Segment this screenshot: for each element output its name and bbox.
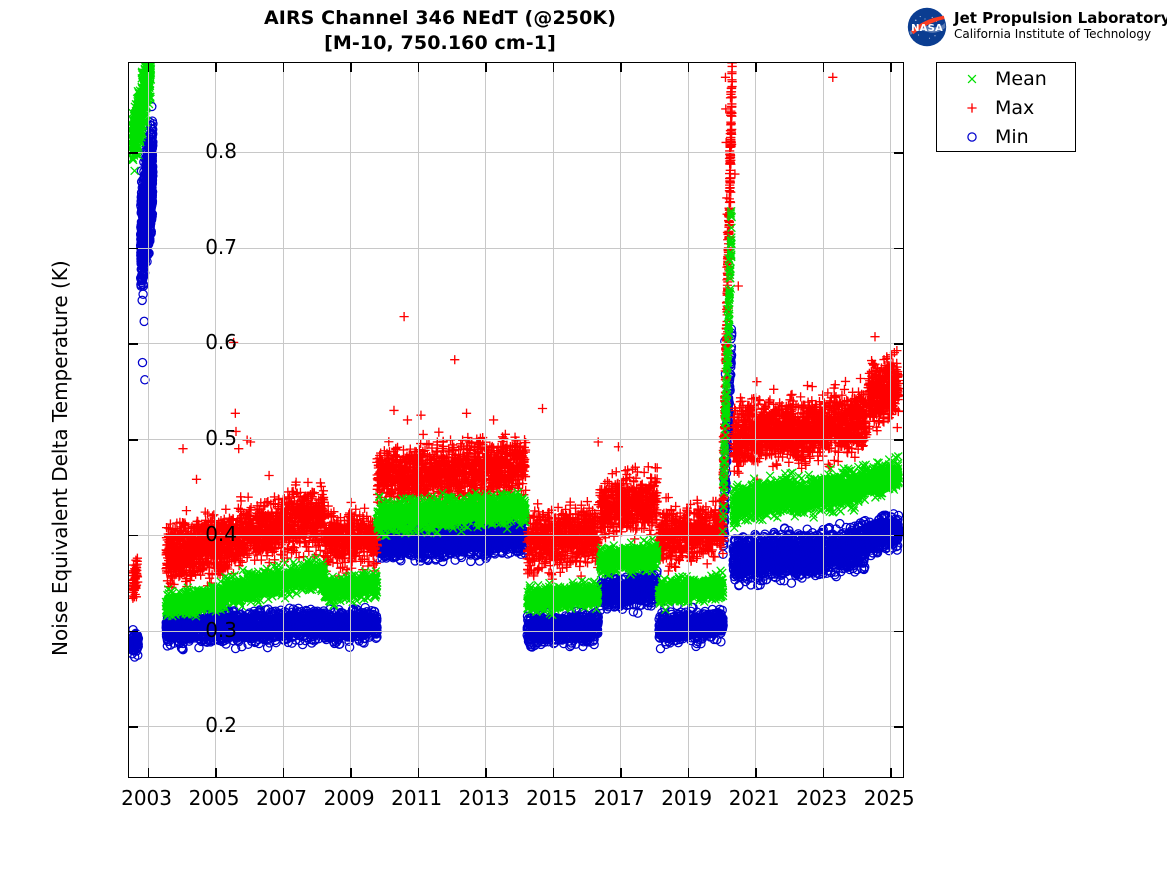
y-axis-tick	[129, 631, 138, 633]
x-axis-tick-label: 2013	[459, 786, 510, 810]
x-axis-tick	[688, 768, 690, 777]
y-axis-tick	[894, 726, 903, 728]
y-axis-title: Noise Equivalent Delta Temperature (K)	[48, 260, 72, 656]
legend-item-max[interactable]: Max	[937, 93, 1075, 123]
x-axis-tick-label: 2021	[729, 786, 780, 810]
x-axis-tick-label: 2007	[256, 786, 307, 810]
chart-title: AIRS Channel 346 NEdT (@250K) [M-10, 750…	[0, 6, 880, 56]
gridline-horizontal	[129, 535, 903, 536]
gridline-vertical	[755, 63, 756, 777]
legend-label: Mean	[995, 64, 1047, 94]
legend: MeanMaxMin	[936, 62, 1076, 152]
x-axis-tick	[418, 768, 420, 777]
x-axis-tick	[890, 63, 892, 72]
x-axis-tick-label: 2015	[526, 786, 577, 810]
y-axis-tick-label: 0.7	[205, 235, 237, 259]
x-axis-tick	[148, 768, 150, 777]
x-axis-tick	[283, 768, 285, 777]
legend-label: Max	[995, 93, 1034, 123]
y-axis-tick	[894, 439, 903, 441]
x-axis-tick	[823, 63, 825, 72]
gridline-vertical	[418, 63, 419, 777]
y-axis-tick	[129, 726, 138, 728]
gridline-vertical	[148, 63, 149, 777]
x-axis-tick-label: 2003	[121, 786, 172, 810]
y-axis-tick	[129, 535, 138, 537]
y-axis-tick-label: 0.6	[205, 330, 237, 354]
x-axis-tick	[350, 768, 352, 777]
x-axis-tick-label: 2011	[391, 786, 442, 810]
gridline-horizontal	[129, 248, 903, 249]
y-axis-tick-label: 0.2	[205, 713, 237, 737]
gridline-vertical	[350, 63, 351, 777]
x-axis-tick	[890, 768, 892, 777]
nasa-meatball-icon: NASA	[906, 7, 948, 47]
x-axis-tick	[620, 63, 622, 72]
x-axis-tick-label: 2017	[594, 786, 645, 810]
gridline-vertical	[890, 63, 891, 777]
gridline-vertical	[553, 63, 554, 777]
gridline-horizontal	[129, 152, 903, 153]
scatter-layer	[129, 63, 902, 776]
y-axis-tick	[894, 343, 903, 345]
y-axis-tick-label: 0.4	[205, 522, 237, 546]
gridline-horizontal	[129, 343, 903, 344]
x-axis-tick	[755, 768, 757, 777]
y-axis-tick	[894, 535, 903, 537]
gridline-vertical	[215, 63, 216, 777]
y-axis-tick	[894, 631, 903, 633]
y-axis-tick-label: 0.3	[205, 618, 237, 642]
gridline-vertical	[283, 63, 284, 777]
legend-item-min[interactable]: Min	[937, 122, 1075, 152]
plot-area	[128, 62, 904, 778]
x-axis-tick-label: 2009	[324, 786, 375, 810]
x-axis-tick	[553, 768, 555, 777]
y-axis-tick	[129, 439, 138, 441]
gridline-horizontal	[129, 439, 903, 440]
svg-text:NASA: NASA	[911, 23, 943, 34]
x-axis-tick	[350, 63, 352, 72]
chart-title-line1: AIRS Channel 346 NEdT (@250K)	[0, 6, 880, 31]
x-axis-tick	[553, 63, 555, 72]
x-axis-tick-label: 2023	[796, 786, 847, 810]
x-axis-tick-label: 2005	[189, 786, 240, 810]
y-axis-tick	[894, 152, 903, 154]
gridline-vertical	[485, 63, 486, 777]
x-axis-tick	[148, 63, 150, 72]
gridline-vertical	[620, 63, 621, 777]
legend-item-mean[interactable]: Mean	[937, 64, 1075, 94]
y-axis-tick-label: 0.8	[205, 139, 237, 163]
gridline-vertical	[823, 63, 824, 777]
x-axis-tick	[485, 768, 487, 777]
legend-label: Min	[995, 122, 1029, 152]
x-axis-tick	[485, 63, 487, 72]
jpl-name: Jet Propulsion Laboratory	[954, 9, 1167, 27]
x-axis-tick	[620, 768, 622, 777]
x-axis-tick	[755, 63, 757, 72]
y-axis-tick-label: 0.5	[205, 426, 237, 450]
x-axis-tick	[215, 63, 217, 72]
gridline-horizontal	[129, 631, 903, 632]
legend-marker-+-icon	[959, 93, 985, 123]
caltech-name: California Institute of Technology	[954, 27, 1167, 42]
x-axis-tick	[215, 768, 217, 777]
x-axis-tick	[688, 63, 690, 72]
y-axis-tick	[894, 248, 903, 250]
chart-title-line2: [M-10, 750.160 cm-1]	[0, 31, 880, 56]
y-axis-tick	[129, 152, 138, 154]
y-axis-tick	[129, 343, 138, 345]
legend-marker-x-icon	[959, 64, 985, 94]
x-axis-tick-label: 2019	[661, 786, 712, 810]
x-axis-tick	[823, 768, 825, 777]
gridline-vertical	[688, 63, 689, 777]
plot-canvas	[129, 63, 903, 777]
legend-marker-o-icon	[959, 122, 985, 152]
nasa-jpl-logo: NASA Jet Propulsion Laboratory Californi…	[906, 6, 1158, 48]
y-axis-tick	[129, 248, 138, 250]
x-axis-tick	[283, 63, 285, 72]
x-axis-tick	[418, 63, 420, 72]
gridline-horizontal	[129, 726, 903, 727]
x-axis-tick-label: 2025	[864, 786, 915, 810]
